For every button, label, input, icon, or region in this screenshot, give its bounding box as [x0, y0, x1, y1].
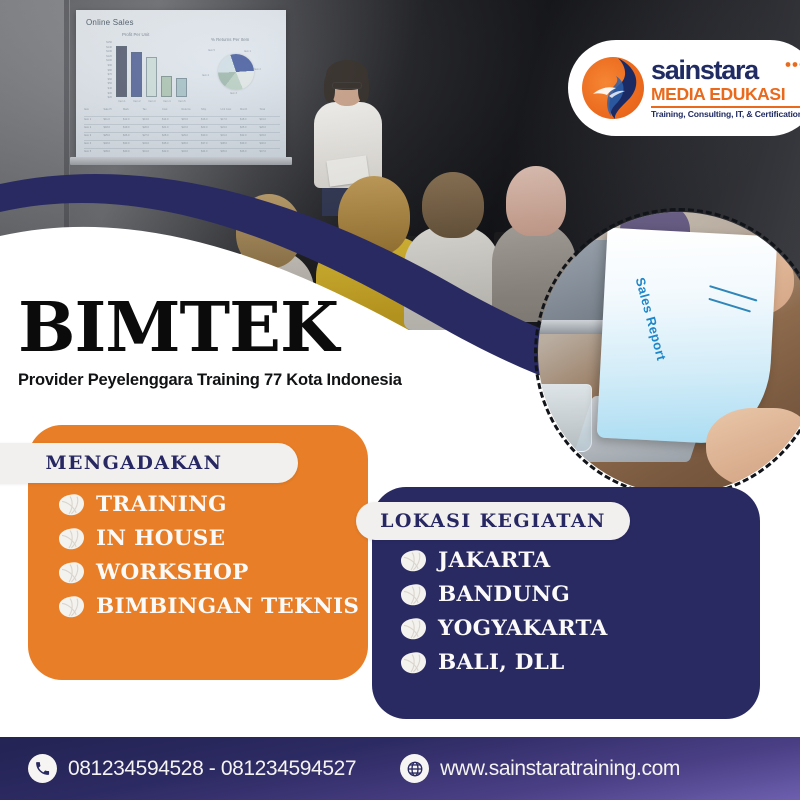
hero-tagline: Provider Peyelenggara Training 77 Kota I…	[18, 371, 402, 390]
phone-contact[interactable]: 081234594528 - 081234594527	[28, 754, 356, 783]
poster-canvas: Online Sales Profit Per Unit % Returns P…	[0, 0, 800, 800]
leaf-icon	[400, 617, 427, 640]
offering-heading: MENGADAKAN	[46, 452, 223, 474]
globe-icon	[400, 754, 429, 783]
offering-list: TRAININGIN HOUSEWORKSHOPBIMBINGAN TEKNIS	[58, 492, 359, 628]
list-item: YOGYAKARTA	[400, 616, 608, 641]
list-item-label: BANDUNG	[438, 582, 570, 607]
leaf-icon	[58, 493, 85, 516]
list-item-label: BALI, DLL	[438, 650, 565, 675]
location-heading: LOKASI KEGIATAN	[380, 510, 606, 532]
list-item: BIMBINGAN TEKNIS	[58, 594, 359, 619]
website-url: www.sainstaratraining.com	[440, 757, 680, 781]
leaf-icon	[58, 595, 85, 618]
phone-icon	[28, 754, 57, 783]
logo-bird-shape	[592, 83, 626, 99]
list-item-label: IN HOUSE	[96, 526, 225, 551]
logo-rule	[651, 106, 800, 108]
list-item: WORKSHOP	[58, 560, 359, 585]
leaf-icon	[58, 527, 85, 550]
list-item-label: JAKARTA	[438, 548, 550, 573]
list-item: BALI, DLL	[400, 650, 608, 675]
leaf-icon	[400, 651, 427, 674]
list-item-label: BIMBINGAN TEKNIS	[96, 594, 359, 619]
list-item: JAKARTA	[400, 548, 608, 573]
location-heading-pill: LOKASI KEGIATAN	[356, 502, 630, 540]
brand-logo[interactable]: sainstara MEDIA EDUKASI Training, Consul…	[568, 40, 800, 136]
logo-tagline: Training, Consulting, IT, & Certificatio…	[651, 109, 800, 119]
logo-wordmark: sainstara MEDIA EDUKASI Training, Consul…	[651, 57, 800, 118]
list-item: BANDUNG	[400, 582, 608, 607]
location-list: JAKARTABANDUNGYOGYAKARTABALI, DLL	[400, 548, 608, 684]
website-contact[interactable]: www.sainstaratraining.com	[400, 754, 680, 783]
list-item: IN HOUSE	[58, 526, 359, 551]
logo-name: sainstara	[651, 57, 800, 84]
list-item-label: YOGYAKARTA	[438, 616, 608, 641]
list-item: TRAINING	[58, 492, 359, 517]
leaf-icon	[400, 583, 427, 606]
list-item-label: WORKSHOP	[96, 560, 249, 585]
logo-subtitle: MEDIA EDUKASI	[651, 84, 800, 104]
contact-footer: 081234594528 - 081234594527 www.sainstar…	[0, 737, 800, 800]
hero-title-block: BIMTEK Provider Peyelenggara Training 77…	[18, 296, 402, 390]
phone-number: 081234594528 - 081234594527	[68, 757, 356, 781]
page-title: BIMTEK	[18, 296, 402, 361]
leaf-icon	[400, 549, 427, 572]
flame-bird-circle-icon	[582, 57, 644, 119]
leaf-icon	[58, 561, 85, 584]
offering-heading-pill: MENGADAKAN	[0, 443, 298, 483]
logo-dots-icon	[785, 61, 800, 68]
list-item-label: TRAINING	[96, 492, 227, 517]
